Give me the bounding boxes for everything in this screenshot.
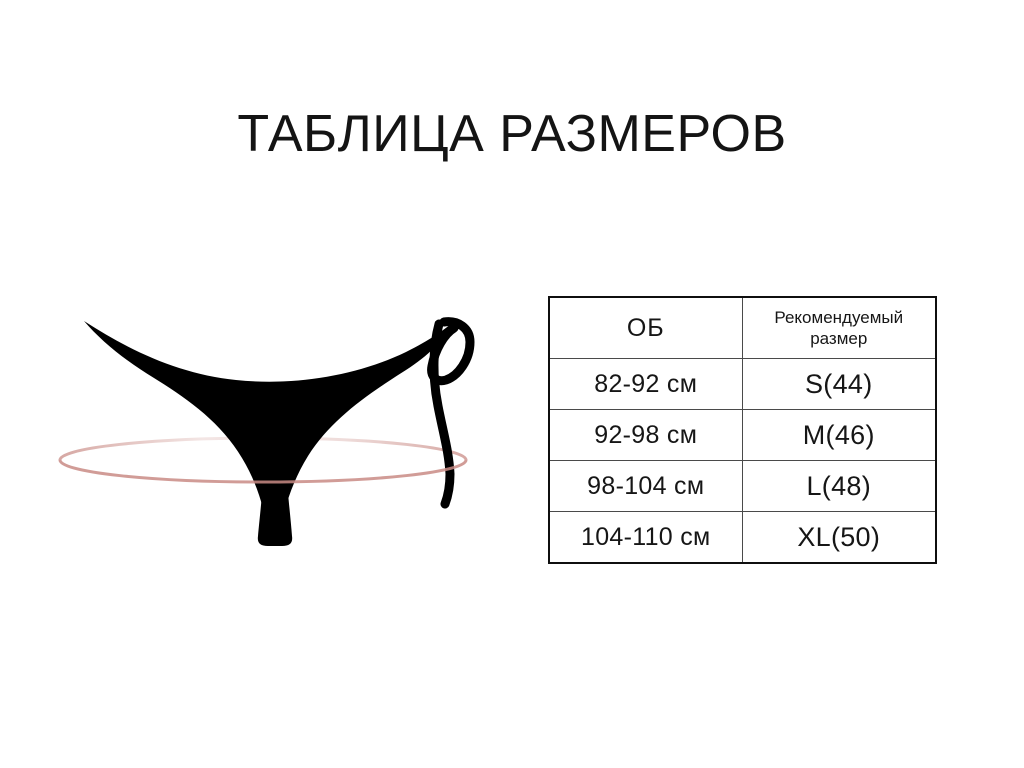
cell-ob: 82-92 см <box>549 359 742 410</box>
table-row: 92-98 см M(46) <box>549 410 936 461</box>
cell-size: XL(50) <box>742 512 936 564</box>
table-header-row: ОБ Рекомендуемый размер <box>549 297 936 359</box>
table-row: 104-110 см XL(50) <box>549 512 936 564</box>
cell-ob: 92-98 см <box>549 410 742 461</box>
table-row: 98-104 см L(48) <box>549 461 936 512</box>
side-tie-string <box>434 324 450 504</box>
cell-size: M(46) <box>742 410 936 461</box>
garment-illustration <box>40 290 500 570</box>
cell-ob: 104-110 см <box>549 512 742 564</box>
column-header-ob: ОБ <box>549 297 742 359</box>
size-table: ОБ Рекомендуемый размер 82-92 см S(44) 9… <box>548 296 937 564</box>
cell-size: L(48) <box>742 461 936 512</box>
cell-ob: 98-104 см <box>549 461 742 512</box>
column-header-line1: Рекомендуемый <box>774 308 903 327</box>
column-header-recommended-size: Рекомендуемый размер <box>742 297 936 359</box>
size-chart-slide: ТАБЛИЦА РАЗМЕРОВ <box>0 0 1024 768</box>
table-row: 82-92 см S(44) <box>549 359 936 410</box>
cell-size: S(44) <box>742 359 936 410</box>
page-title: ТАБЛИЦА РАЗМЕРОВ <box>0 104 1024 164</box>
column-header-line2: размер <box>810 329 867 348</box>
